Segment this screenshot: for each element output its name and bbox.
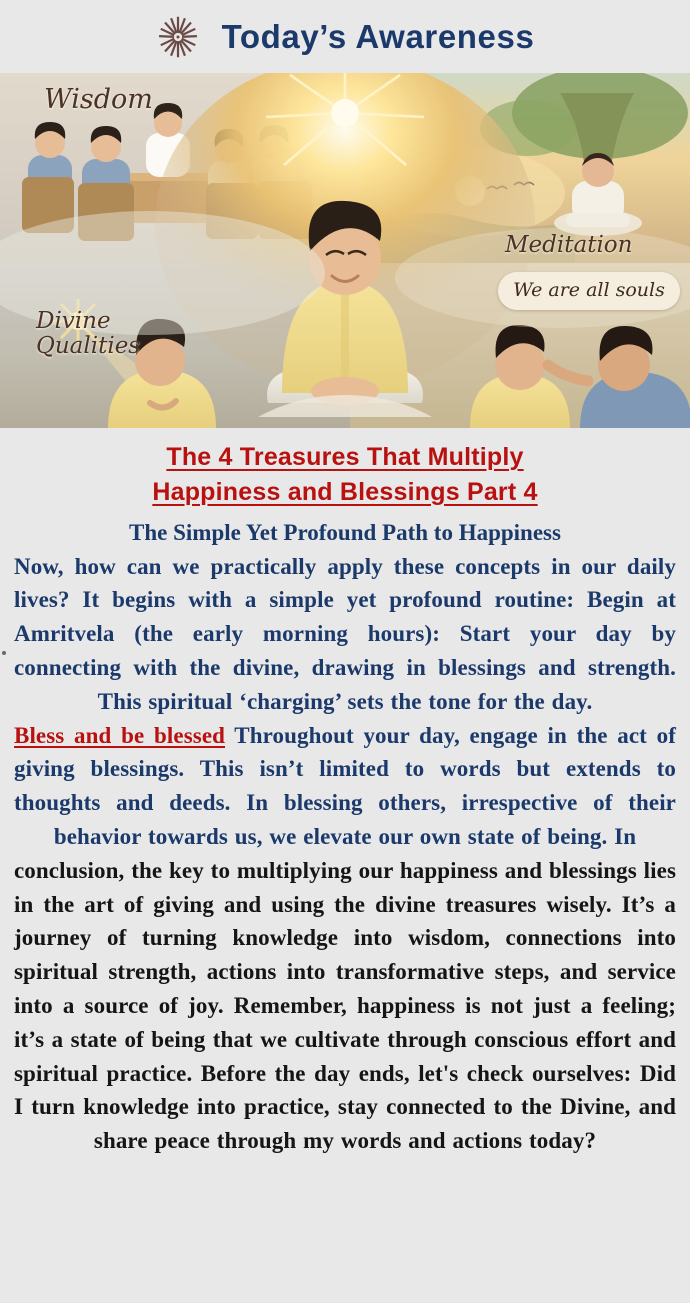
article-subhead: The Simple Yet Profound Path to Happines… bbox=[8, 518, 682, 549]
awareness-page: Today’s Awareness bbox=[0, 0, 690, 1303]
sunburst-icon bbox=[156, 15, 200, 59]
paragraph-conclusion: conclusion, the key to multiplying our h… bbox=[8, 854, 682, 1158]
article-content: The 4 Treasures That Multiply Happiness … bbox=[0, 428, 690, 1303]
highlight-bless-and-be-blessed: Bless and be blessed bbox=[14, 723, 225, 748]
page-title: Today’s Awareness bbox=[222, 18, 535, 56]
paragraph-blessings: Bless and be blessed Throughout your day… bbox=[8, 719, 682, 854]
page-edge-artifact bbox=[2, 651, 6, 655]
article-title-line-1: The 4 Treasures That Multiply bbox=[8, 440, 682, 475]
article-title: The 4 Treasures That Multiply Happiness … bbox=[8, 440, 682, 509]
hero-illustration: Wisdom Meditation Divine Qualities We ar… bbox=[0, 73, 690, 428]
paragraph-intro: Now, how can we practically apply these … bbox=[8, 550, 682, 719]
article-title-line-2: Happiness and Blessings Part 4 bbox=[8, 475, 682, 510]
page-header: Today’s Awareness bbox=[0, 0, 690, 73]
